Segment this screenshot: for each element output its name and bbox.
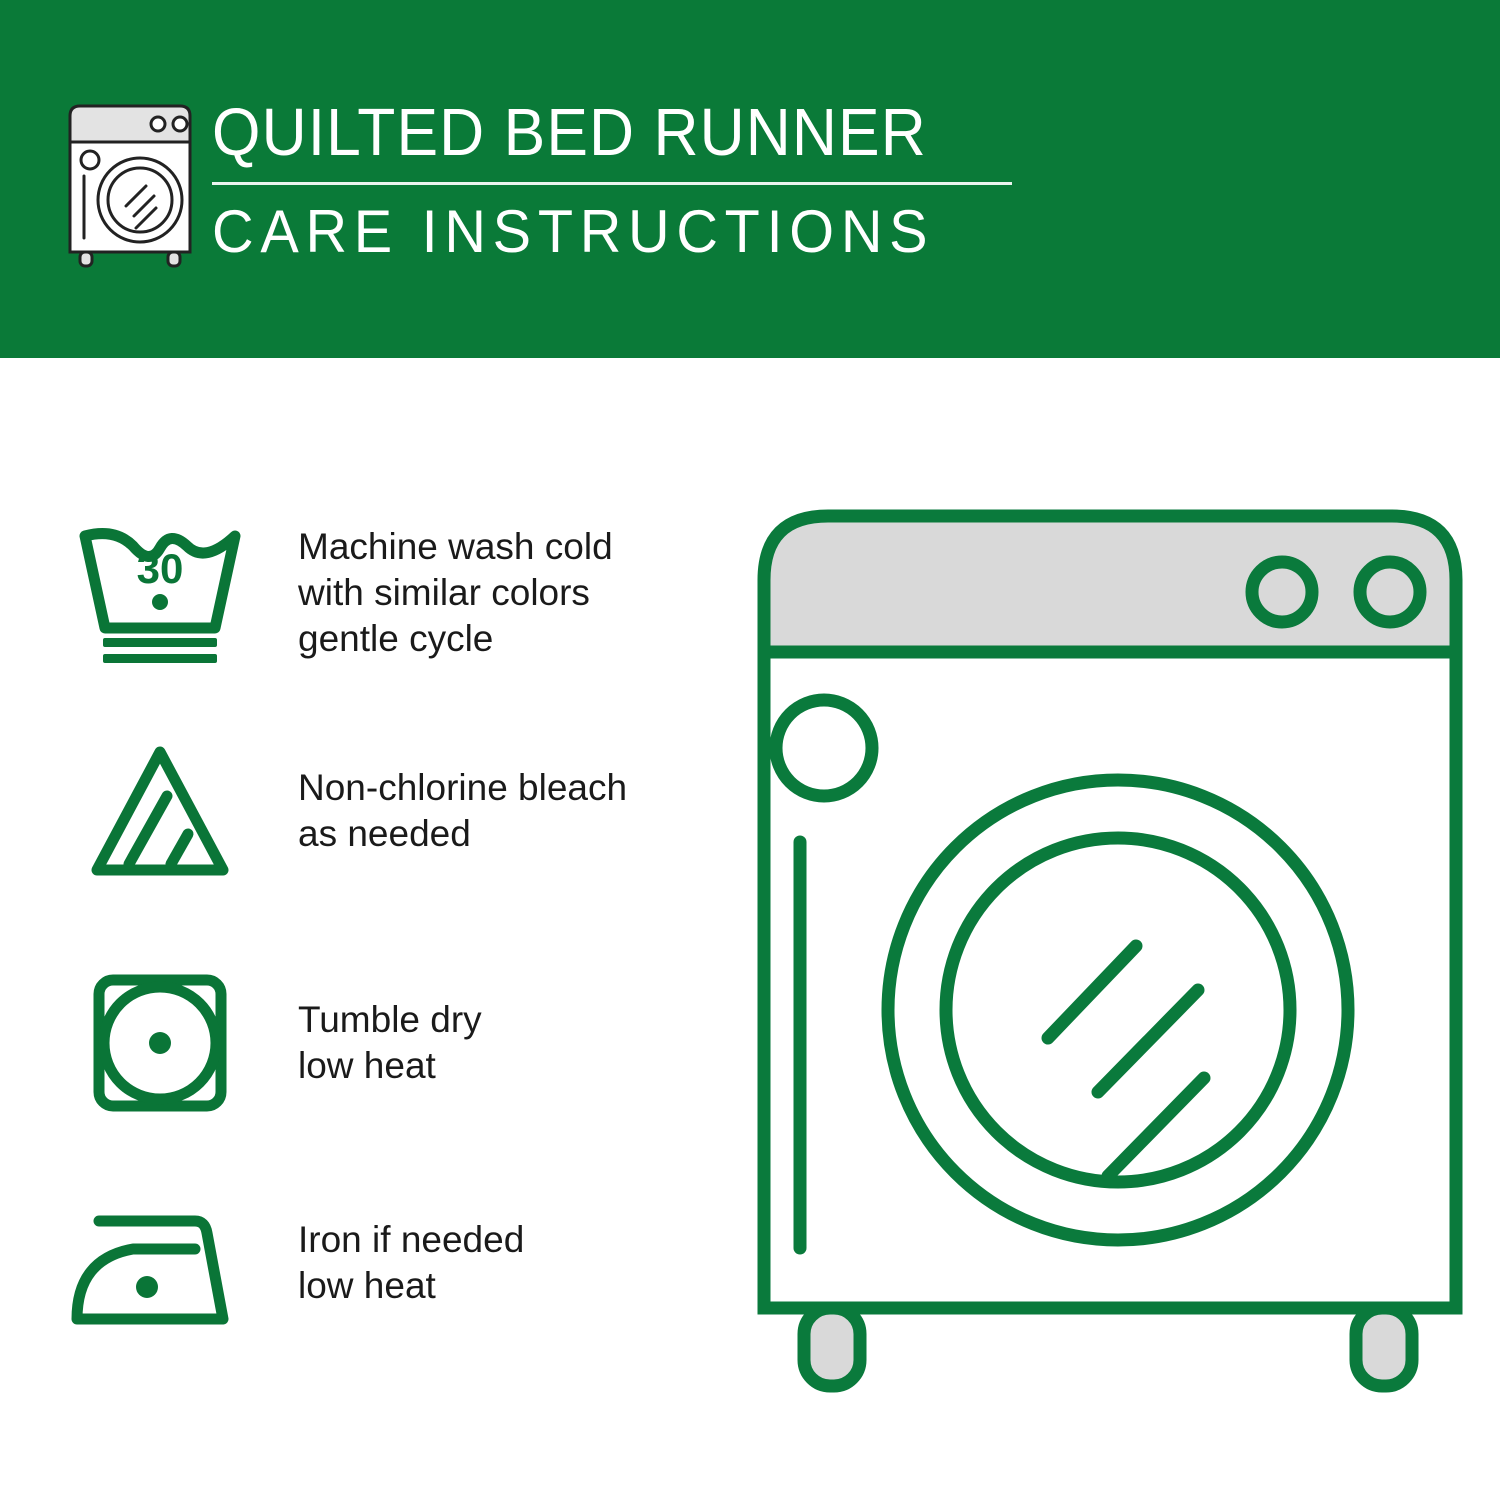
care-symbol-label: Tumble dry low heat: [298, 997, 482, 1089]
page-title: QUILTED BED RUNNER: [212, 96, 975, 170]
care-symbol-label: Iron if needed low heat: [298, 1217, 524, 1309]
page-subtitle: CARE INSTRUCTIONS: [212, 199, 999, 265]
care-symbol-row: Iron if needed low heat: [0, 1178, 700, 1348]
washing-machine-icon: [60, 102, 200, 268]
header-text-block: QUILTED BED RUNNER CARE INSTRUCTIONS: [212, 96, 1032, 265]
care-symbol-label: Non-chlorine bleach as needed: [298, 765, 627, 857]
washing-machine-illustration: [730, 470, 1490, 1430]
page-header: QUILTED BED RUNNER CARE INSTRUCTIONS: [0, 0, 1500, 358]
care-symbol-list: 30 Machine wash cold with similar colors…: [0, 358, 700, 1500]
care-symbol-row: Tumble dry low heat: [0, 958, 700, 1128]
care-instructions-page: QUILTED BED RUNNER CARE INSTRUCTIONS 30 …: [0, 0, 1500, 1500]
care-symbol-row: Non-chlorine bleach as needed: [0, 726, 700, 896]
non-chlorine-bleach-triangle-icon: [60, 726, 260, 896]
machine-wash-tub-icon: 30: [60, 508, 260, 678]
svg-text:30: 30: [137, 545, 184, 592]
title-divider: [212, 182, 1012, 185]
care-symbol-row: 30 Machine wash cold with similar colors…: [0, 508, 700, 678]
iron-icon: [60, 1178, 260, 1348]
care-symbol-label: Machine wash cold with similar colors ge…: [298, 524, 613, 662]
tumble-dry-icon: [60, 958, 260, 1128]
